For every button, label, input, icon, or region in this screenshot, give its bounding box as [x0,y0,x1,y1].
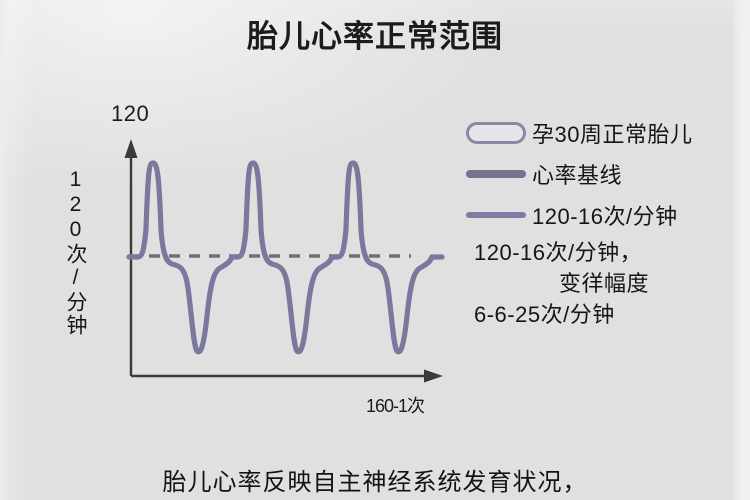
legend-item-label: 心率基线 [532,158,622,190]
legend-item-baseline[interactable]: 心率基线 [466,153,742,194]
fetal-heart-rate-chart [56,96,456,396]
legend-item-normal-fetus[interactable]: 孕30周正常胎儿 [466,112,742,153]
x-axis-label: 160-1次 [330,392,460,418]
background-left-edge [0,0,8,500]
page-title: 胎儿心率正常范围 [0,18,750,55]
chart-svg [56,96,456,396]
thin-line-icon [466,212,532,218]
legend-note-line: 变徉幅度 [466,268,742,299]
legend-note-line: 6-6-25次/分钟 [466,299,742,330]
x-axis [131,370,443,383]
thick-line-icon [466,170,532,178]
legend-item-label: 120-16次/分钟 [532,199,678,231]
legend-note-line: 120-16次/分钟， [466,237,742,268]
legend-item-label: 孕30周正常胎儿 [532,117,692,149]
pill-outline-icon [466,122,532,144]
infographic-root: 胎儿心率正常范围 120 120次/分钟 160-1次 [0,0,750,500]
legend-notes: 120-16次/分钟， 变徉幅度 6-6-25次/分钟 [466,237,742,331]
chart-legend: 孕30周正常胎儿 心率基线 120-16次/分钟 120-16次/分钟， 变徉幅… [466,112,742,331]
legend-item-rate-range[interactable]: 120-16次/分钟 [466,194,742,235]
bottom-caption: 胎儿心率反映自主神经系统发育状况， [0,462,750,497]
